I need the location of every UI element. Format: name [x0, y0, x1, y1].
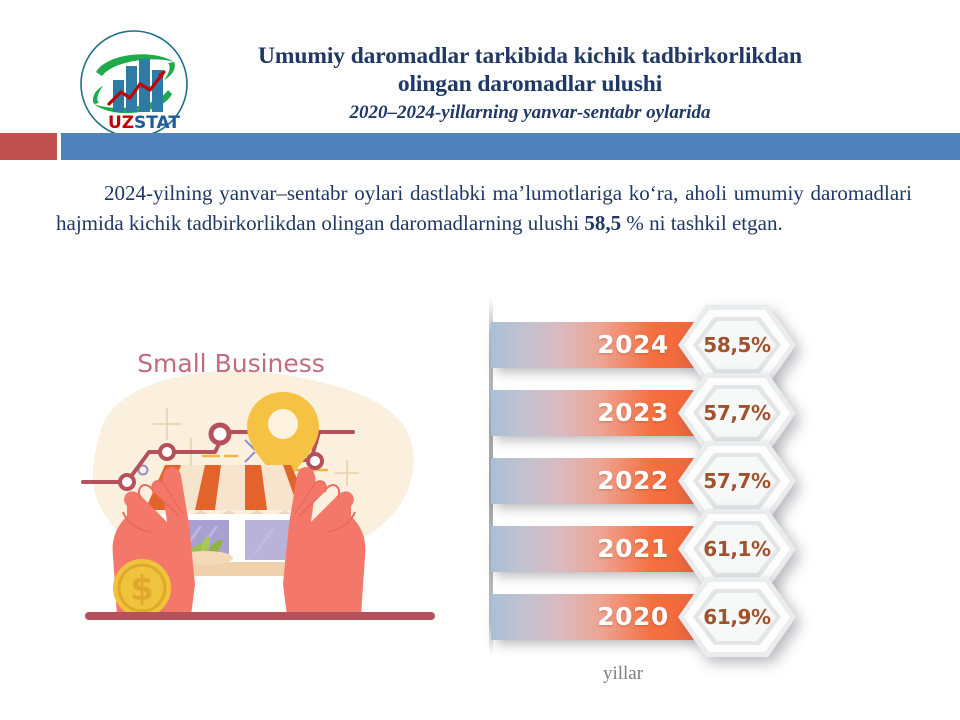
title-block: Umumiy daromadlar tarkibida kichik tadbi…	[180, 42, 880, 126]
page-title-line-1: Umumiy daromadlar tarkibida kichik tadbi…	[180, 42, 880, 70]
chart-bar-row[interactable]: 2024 58,5%	[478, 311, 960, 379]
paragraph-text-part-1: 2024-yilning yanvar–sentabr oylari dastl…	[56, 181, 912, 235]
bar-category-label: 2023	[491, 390, 703, 436]
bar-chart: 2024 58,5% 2023	[478, 285, 960, 685]
dollar-coin-icon: $	[113, 559, 171, 617]
bar-category-label: 2022	[491, 458, 703, 504]
logo-text-stat: STAT	[134, 113, 180, 133]
header: UZ STAT Umumiy daromadlar tarkibida kich…	[0, 0, 960, 165]
bar-category-label: 2024	[491, 322, 703, 368]
paragraph-highlight-value: 58,5	[584, 211, 621, 235]
chart-node	[120, 475, 134, 489]
chart-node	[211, 425, 229, 443]
chart-x-axis-label: yillar	[558, 663, 688, 685]
chart-node	[308, 454, 322, 468]
chart-bar-row[interactable]: 2020 61,9%	[478, 583, 960, 651]
paragraph-text-part-2: % ni tashkil etgan.	[621, 211, 783, 235]
uzstat-logo: UZ STAT	[78, 28, 190, 140]
ground-line	[85, 612, 435, 620]
page-title-line-2: olingan daromadlar ulushi	[180, 70, 880, 98]
bar-category-label: 2021	[491, 526, 703, 572]
chart-node	[160, 445, 174, 459]
body-paragraph: 2024-yilning yanvar–sentabr oylari dastl…	[56, 178, 912, 238]
slide-root: UZ STAT Umumiy daromadlar tarkibida kich…	[0, 0, 960, 720]
header-rule-red	[0, 133, 57, 160]
page-subtitle: 2020–2024-yillarning yanvar-sentabr oyla…	[180, 100, 880, 126]
small-business-illustration: Small Business	[55, 300, 465, 640]
chart-bar-row[interactable]: 2022 57,7%	[478, 447, 960, 515]
bar-category-label: 2020	[491, 594, 703, 640]
bar-value-label: 61,9%	[676, 575, 798, 659]
svg-text:$: $	[130, 569, 154, 609]
chart-bar-row[interactable]: 2021 61,1%	[478, 515, 960, 583]
chart-bar-row[interactable]: 2023 57,7%	[478, 379, 960, 447]
logo-text-uz: UZ	[108, 113, 134, 133]
illustration-caption-text: Small Business	[137, 349, 325, 378]
header-rule-blue	[61, 133, 960, 160]
